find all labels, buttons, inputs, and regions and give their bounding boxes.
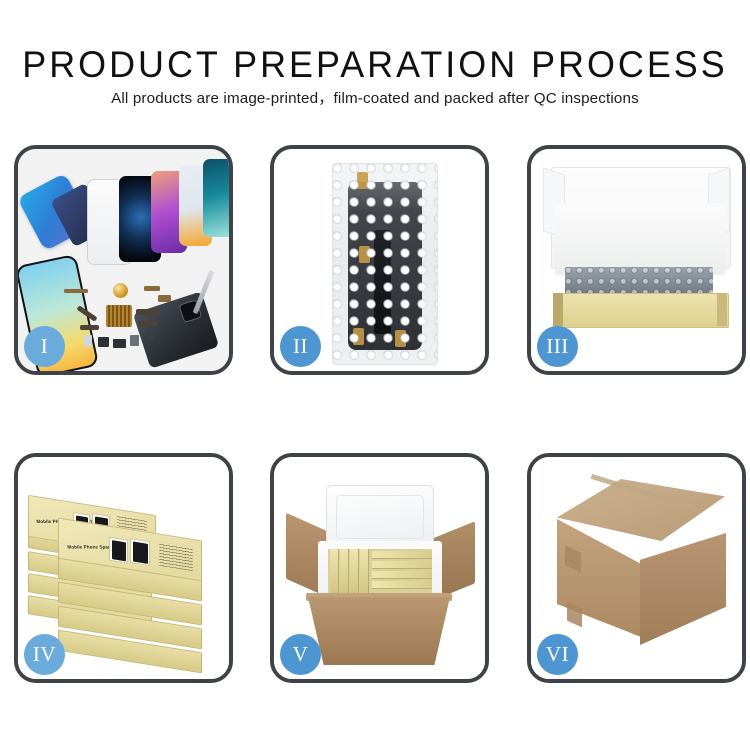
process-step-grid: I II xyxy=(0,0,750,750)
camera-module-icon xyxy=(98,337,109,347)
process-step-5: V xyxy=(270,453,489,683)
step-2-numeral-badge: II xyxy=(280,326,321,367)
inner-box-row xyxy=(372,571,432,579)
flex-cable-icon-4 xyxy=(138,321,158,326)
screw-set-icon xyxy=(146,331,154,339)
logic-board-icon xyxy=(106,305,132,327)
kraft-box-side-right xyxy=(717,293,727,326)
inner-box-row xyxy=(372,561,432,569)
box-spec-lines xyxy=(159,542,193,571)
kraft-box-stack: Mobile Phone Spare Parts Mobile Phone Sp… xyxy=(26,483,226,663)
styrofoam-lid xyxy=(326,485,434,549)
process-step-1: I xyxy=(14,145,233,375)
step-5-numeral-badge: V xyxy=(280,634,321,675)
process-step-4: Mobile Phone Spare Parts Mobile Phone Sp… xyxy=(14,453,233,683)
chip-icon-1 xyxy=(64,289,88,293)
phone-back-cover-icon xyxy=(133,291,219,368)
step-3-numeral-badge: III xyxy=(537,326,578,367)
flex-cable-icon-2 xyxy=(80,325,99,330)
box-window-1 xyxy=(109,537,128,564)
kraft-box-side-left xyxy=(553,293,563,326)
process-step-3: III xyxy=(527,145,746,375)
inner-box-edge xyxy=(340,549,349,597)
bubble-wrap-bag xyxy=(332,163,438,365)
carton-body xyxy=(308,597,450,665)
inner-box-row xyxy=(372,581,432,589)
chip-icon-3 xyxy=(158,295,171,302)
sim-tray-icon xyxy=(84,335,92,347)
vibrator-icon xyxy=(113,339,126,348)
inner-box-edge xyxy=(350,549,359,597)
kraft-boxes-inside xyxy=(328,549,432,597)
kraft-box-front xyxy=(553,293,729,328)
inner-box-edge xyxy=(330,549,339,597)
foam-sheet xyxy=(555,203,725,275)
step-6-numeral-badge: VI xyxy=(537,634,578,675)
phone-display-teal-icon xyxy=(203,159,229,237)
box-window-2 xyxy=(130,538,150,566)
product-preparation-infographic: PRODUCT PREPARATION PROCESS All products… xyxy=(0,0,750,750)
process-step-2: II xyxy=(270,145,489,375)
speaker-component-icon xyxy=(113,283,128,298)
inner-box-edge xyxy=(360,549,369,597)
chip-icon-2 xyxy=(144,286,160,291)
process-step-6: VI xyxy=(527,453,746,683)
step-4-numeral-badge: IV xyxy=(24,634,65,675)
carton-right-face xyxy=(640,533,726,645)
flex-cable-icon-3 xyxy=(136,309,160,315)
connector-icon xyxy=(130,335,139,346)
inner-box-row xyxy=(372,551,432,559)
bubble-texture xyxy=(333,164,437,364)
step-1-numeral-badge: I xyxy=(24,326,65,367)
